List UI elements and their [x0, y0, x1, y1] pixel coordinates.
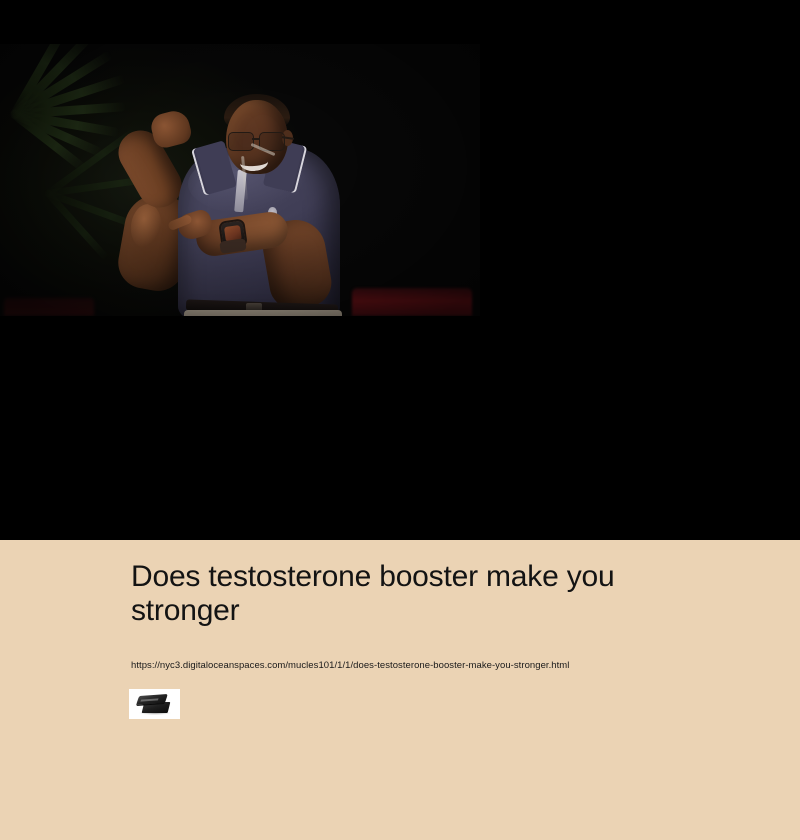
video-frame[interactable]: [0, 44, 480, 316]
product-thumbnail[interactable]: [129, 689, 180, 719]
video-player[interactable]: [0, 0, 800, 540]
page-url[interactable]: https://nyc3.digitaloceanspaces.com/mucl…: [131, 660, 569, 672]
page-title: Does testosterone booster make you stron…: [131, 560, 691, 628]
trousers: [184, 310, 342, 316]
speaker-figure: [0, 44, 480, 316]
